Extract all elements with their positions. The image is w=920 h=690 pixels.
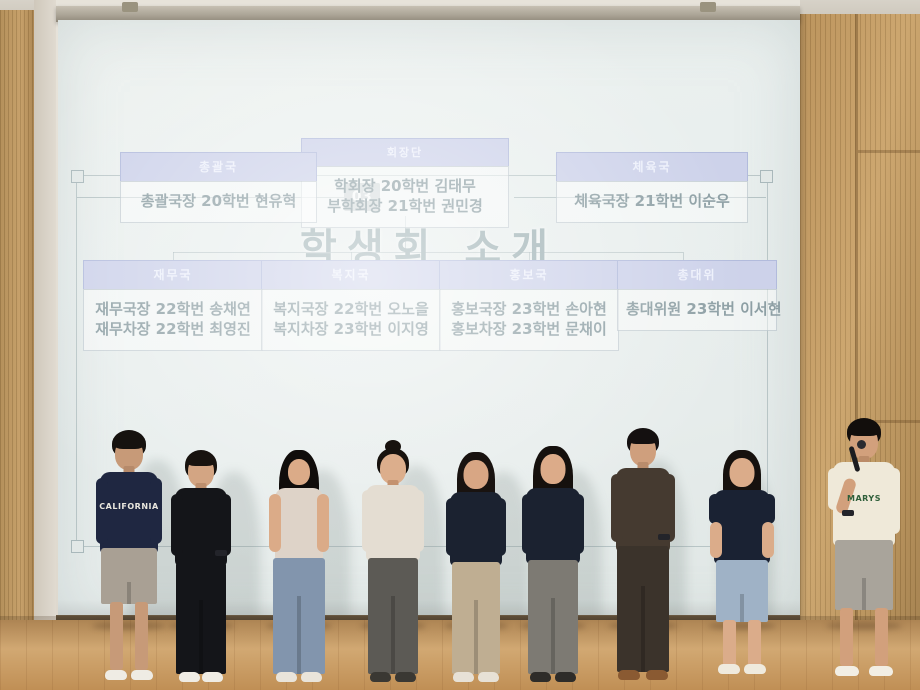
person-6-arm-right	[572, 494, 584, 554]
person-6-shoe-left	[530, 672, 551, 682]
org-card-welfare: 복지국 복지국장 22학번 오노을 복지차장 23학번 이지영	[261, 260, 441, 351]
org-card-council-committee-line-1: 총대위원 23학번 이서현	[626, 299, 768, 319]
org-card-welfare-line-2: 복지차장 23학번 이지영	[270, 319, 432, 339]
org-card-chair-line-1: 학회장 20학번 김태무	[310, 176, 500, 196]
person-3-shoe-left	[276, 672, 297, 682]
person-7-shoe-right	[646, 670, 668, 680]
org-card-council-committee-body: 총대위원 23학번 이서현	[617, 289, 777, 331]
person-7-shoe-left	[618, 670, 640, 680]
org-card-general-affairs: 총괄국 총괄국장 20학번 현유혁	[120, 152, 317, 223]
person-1-shirt-text: CALIFORNIA	[99, 502, 158, 511]
person-8-head	[730, 458, 755, 487]
person-9-shorts-gap	[862, 578, 866, 610]
left-wall-strip	[34, 0, 56, 690]
org-card-public-relations-body: 홍보국장 23학번 손아현 홍보차장 23학번 문채이	[439, 289, 619, 351]
person-1-shin-left	[110, 602, 123, 670]
org-card-welfare-body: 복지국장 22학번 오노을 복지차장 23학번 이지영	[261, 289, 441, 351]
person-1-shorts-gap	[127, 582, 131, 604]
person-4-pants-gap	[391, 596, 395, 674]
connector-horizontal	[173, 252, 683, 253]
person-1-shin-right	[135, 602, 148, 670]
microphone-head-icon	[857, 440, 866, 449]
person-3-shoe-right	[301, 672, 322, 682]
person-9-speaker: MARYS	[826, 418, 902, 690]
person-5	[444, 452, 508, 690]
person-4	[360, 440, 426, 690]
person-2-shoe-left	[179, 672, 200, 682]
org-card-general-affairs-line-1: 총괄국장 20학번 현유혁	[129, 191, 308, 211]
person-6-head	[541, 454, 566, 484]
person-9-shirt-text: MARYS	[847, 494, 881, 503]
auditorium-photo: 03 학생회 소개 회장단 학회장 20학번 김태무 부학회장 21학번 권민경	[0, 0, 920, 690]
person-7-arm-left	[611, 474, 623, 542]
org-card-public-relations-line-1: 홍보국장 23학번 손아현	[448, 299, 610, 319]
person-5-pants-gap	[474, 600, 478, 674]
person-6-arm-left	[522, 494, 534, 554]
org-card-finance-line-2: 재무차장 22학번 최영진	[92, 319, 254, 339]
roller-bracket-left	[122, 2, 138, 12]
person-7-wristwatch	[658, 534, 670, 540]
person-8-forearm-left	[710, 522, 722, 558]
person-1-arm-left	[96, 478, 108, 544]
org-card-council-committee: 총대위 총대위원 23학번 이서현	[617, 260, 777, 331]
person-6-pants-gap	[551, 598, 555, 674]
org-card-chair-line-2: 부학회장 21학번 권민경	[310, 196, 500, 216]
person-5-shoe-right	[478, 672, 499, 682]
person-7-arm-right	[663, 474, 675, 542]
person-6-shoe-right	[555, 672, 576, 682]
person-9-wristwatch	[842, 510, 854, 516]
org-card-public-relations-line-2: 홍보차장 23학번 문채이	[448, 319, 610, 339]
org-card-general-affairs-body: 총괄국장 20학번 현유혁	[120, 181, 317, 223]
person-6	[520, 446, 586, 690]
left-wood-panel	[0, 10, 34, 690]
org-card-sports-header: 체육국	[556, 152, 748, 181]
person-2-wristwatch	[215, 550, 227, 556]
person-5-head	[464, 460, 489, 489]
person-9-shoe-right	[869, 666, 893, 676]
person-5-arm-right	[494, 498, 506, 556]
org-card-chair-body: 학회장 20학번 김태무 부학회장 21학번 권민경	[301, 166, 509, 228]
person-2-arm-right	[219, 494, 231, 556]
org-card-welfare-line-1: 복지국장 22학번 오노을	[270, 299, 432, 319]
person-1: CALIFORNIA	[92, 430, 166, 690]
person-4-arm-right	[412, 490, 424, 552]
person-1-shoe-right	[131, 670, 153, 680]
org-card-general-affairs-header: 총괄국	[120, 152, 317, 181]
org-card-sports: 체육국 체육국장 21학번 이순우	[556, 152, 748, 223]
person-8-shoe-left	[718, 664, 740, 674]
org-card-sports-body: 체육국장 21학번 이순우	[556, 181, 748, 223]
person-2-shoe-right	[202, 672, 223, 682]
roller-bracket-right	[700, 2, 716, 12]
corner-marker-top-right	[760, 170, 773, 183]
org-card-welfare-header: 복지국	[261, 260, 441, 289]
person-8-forearm-right	[762, 522, 774, 558]
person-1-shoe-left	[105, 670, 127, 680]
person-3-face	[288, 459, 310, 485]
person-4-shoe-right	[395, 672, 416, 682]
person-2-hair-front	[187, 453, 216, 466]
person-1-hair-front	[114, 436, 144, 449]
person-9-hair-front	[849, 423, 880, 436]
person-9-arm-right	[888, 468, 900, 534]
org-card-public-relations: 홍보국 홍보국장 23학번 손아현 홍보차장 23학번 문채이	[439, 260, 619, 351]
person-4-shoe-left	[370, 672, 391, 682]
person-3-arm-right	[317, 494, 329, 552]
org-card-chair: 회장단 학회장 20학번 김태무 부학회장 21학번 권민경	[301, 138, 509, 228]
corner-marker-bottom-left	[71, 540, 84, 553]
person-8-arm-left	[709, 494, 721, 524]
connector-drop-finance	[173, 252, 174, 260]
org-card-finance-header: 재무국	[83, 260, 263, 289]
person-3-arm-left	[269, 494, 281, 552]
person-9-shin-right	[875, 608, 888, 666]
connector-drop-pr	[529, 252, 530, 260]
org-card-finance-body: 재무국장 22학번 송채연 재무차장 22학번 최영진	[83, 289, 263, 351]
person-8-shoe-right	[744, 664, 766, 674]
person-3-jeans-gap	[297, 596, 301, 674]
person-2-arm-left	[171, 494, 183, 556]
right-wall-groove-upper	[858, 150, 920, 153]
person-2	[168, 450, 234, 690]
person-3	[266, 450, 332, 690]
person-8-shorts-gap	[740, 594, 744, 622]
org-card-sports-line-1: 체육국장 21학번 이순우	[565, 191, 739, 211]
person-8	[708, 450, 776, 690]
org-card-finance: 재무국 재무국장 22학번 송채연 재무차장 22학번 최영진	[83, 260, 263, 351]
org-card-finance-line-1: 재무국장 22학번 송채연	[92, 299, 254, 319]
person-9-shin-left	[840, 608, 853, 666]
person-8-shin-right	[748, 620, 761, 666]
person-7-hair-front	[629, 432, 658, 444]
person-4-arm-left	[362, 490, 374, 552]
person-3-top	[275, 488, 323, 562]
connector-drop-council	[683, 252, 684, 260]
person-1-arm-right	[150, 478, 162, 544]
org-card-public-relations-header: 홍보국	[439, 260, 619, 289]
connector-drop-welfare	[351, 252, 352, 260]
person-5-arm-left	[446, 498, 458, 556]
person-2-pants-gap	[199, 600, 203, 674]
org-card-chair-header: 회장단	[301, 138, 509, 166]
person-8-shin-left	[723, 620, 736, 666]
person-7	[608, 428, 678, 690]
org-card-council-committee-header: 총대위	[617, 260, 777, 289]
corner-marker-top-left	[71, 170, 84, 183]
person-8-arm-right	[763, 494, 775, 524]
person-5-shoe-left	[453, 672, 474, 682]
person-7-pants-gap	[641, 586, 645, 672]
person-9-shoe-left	[835, 666, 859, 676]
